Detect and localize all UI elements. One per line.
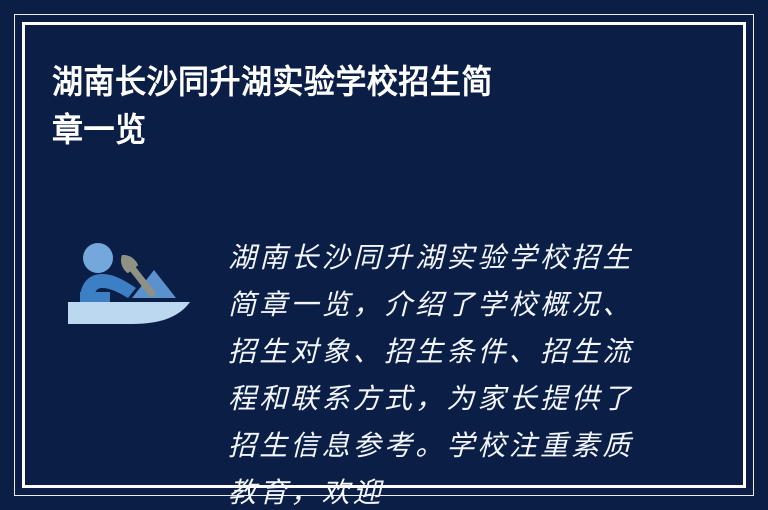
page-title-line-1: 湖南长沙同升湖实验学校招生简 bbox=[52, 58, 616, 106]
page-title: 湖南长沙同升湖实验学校招生简 章一览 bbox=[52, 58, 652, 154]
article-summary: 湖南长沙同升湖实验学校招生简章一览，介绍了学校概况、招生对象、招生条件、招生流程… bbox=[228, 206, 656, 510]
rowing-boat-icon bbox=[58, 236, 210, 336]
article-cover-card: 湖南长沙同升湖实验学校招生简 章一览 湖南长沙同升湖实验学校招生简章一览，介绍了… bbox=[0, 0, 768, 510]
page-title-line-2: 章一览 bbox=[52, 106, 616, 154]
article-summary-text: 湖南长沙同升湖实验学校招生简章一览，介绍了学校概况、招生对象、招生条件、招生流程… bbox=[228, 234, 656, 510]
